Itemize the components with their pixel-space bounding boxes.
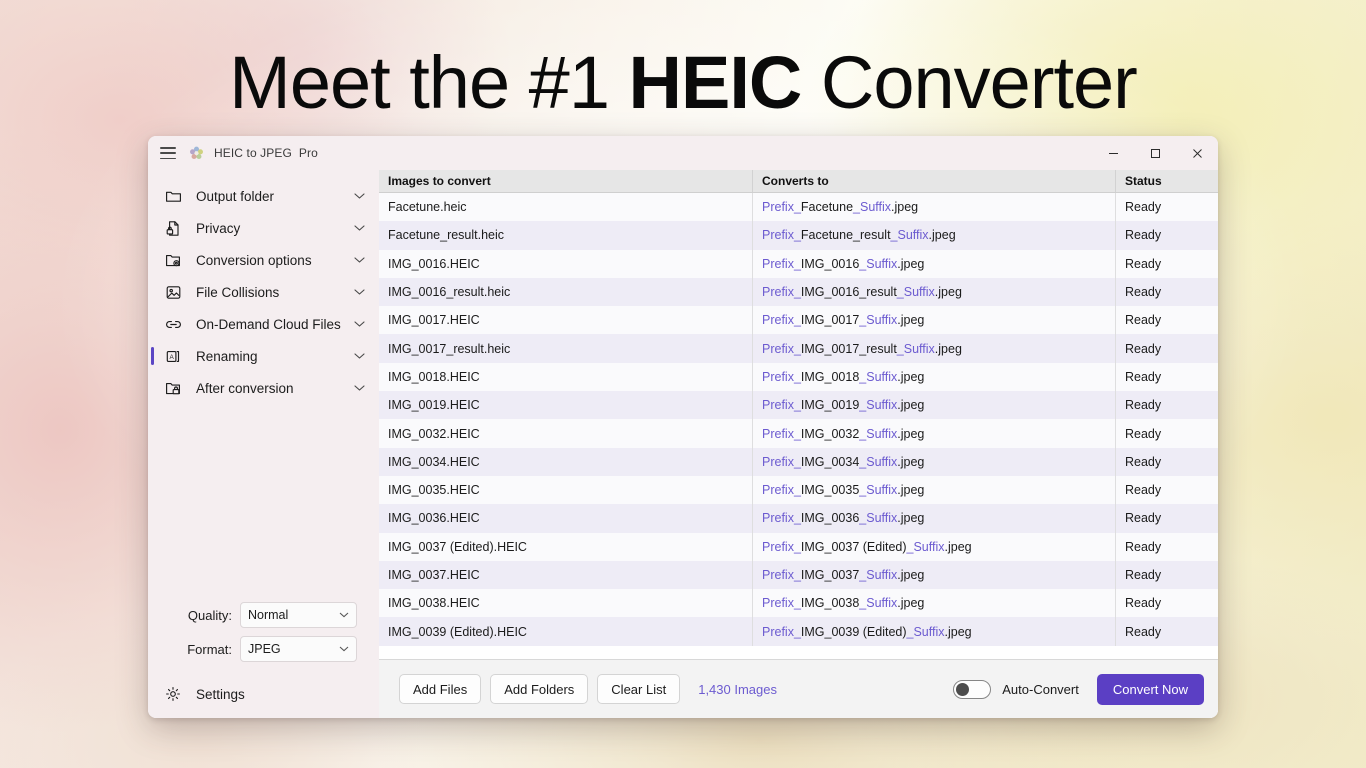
table-row[interactable]: IMG_0016.HEICPrefix_IMG_0016_Suffix.jpeg…	[379, 250, 1218, 278]
cell-output-file: Prefix_Facetune_Suffix.jpeg	[753, 193, 1116, 221]
file-table: Images to convert Converts to Status Fac…	[379, 170, 1218, 659]
cell-output-file: Prefix_IMG_0032_Suffix.jpeg	[753, 419, 1116, 447]
file-lock-icon	[164, 220, 182, 237]
sidebar-item-label: Privacy	[196, 221, 353, 236]
output-extension: .jpeg	[897, 257, 924, 271]
cell-status: Ready	[1116, 476, 1218, 504]
output-extension: .jpeg	[945, 540, 972, 554]
output-suffix: _Suffix	[907, 625, 945, 639]
cell-status: Ready	[1116, 504, 1218, 532]
table-row[interactable]: Facetune_result.heicPrefix_Facetune_resu…	[379, 221, 1218, 249]
output-basename: IMG_0034	[801, 455, 859, 469]
selected-indicator	[151, 347, 154, 365]
output-extension: .jpeg	[897, 511, 924, 525]
image-icon	[164, 284, 182, 301]
output-extension: .jpeg	[897, 370, 924, 384]
headline-emphasis: HEIC	[629, 41, 802, 124]
sidebar-item-after-conversion[interactable]: After conversion	[148, 372, 379, 404]
cell-source-file: Facetune.heic	[379, 193, 753, 221]
table-row[interactable]: IMG_0037.HEICPrefix_IMG_0037_Suffix.jpeg…	[379, 561, 1218, 589]
output-extension: .jpeg	[897, 398, 924, 412]
cell-output-file: Prefix_IMG_0038_Suffix.jpeg	[753, 589, 1116, 617]
output-extension: .jpeg	[935, 342, 962, 356]
format-label: Format:	[187, 642, 232, 657]
output-extension: .jpeg	[897, 427, 924, 441]
sidebar-settings-group: Quality: Normal Format: JPEG	[148, 602, 379, 670]
folder-gear-icon	[164, 252, 182, 269]
output-suffix: _Suffix	[859, 427, 897, 441]
output-extension: .jpeg	[897, 313, 924, 327]
table-row[interactable]: IMG_0035.HEICPrefix_IMG_0035_Suffix.jpeg…	[379, 476, 1218, 504]
output-extension: .jpeg	[897, 568, 924, 582]
output-basename: IMG_0018	[801, 370, 859, 384]
column-header-status[interactable]: Status	[1116, 170, 1218, 192]
table-row[interactable]: IMG_0018.HEICPrefix_IMG_0018_Suffix.jpeg…	[379, 363, 1218, 391]
output-basename: IMG_0017_result	[801, 342, 897, 356]
cell-source-file: IMG_0032.HEIC	[379, 419, 753, 447]
cell-status: Ready	[1116, 589, 1218, 617]
chevron-down-icon[interactable]	[353, 193, 365, 200]
table-row[interactable]: IMG_0032.HEICPrefix_IMG_0032_Suffix.jpeg…	[379, 419, 1218, 447]
cell-output-file: Prefix_Facetune_result_Suffix.jpeg	[753, 221, 1116, 249]
output-basename: IMG_0019	[801, 398, 859, 412]
chevron-down-icon	[339, 646, 349, 652]
cell-source-file: IMG_0037.HEIC	[379, 561, 753, 589]
table-row[interactable]: IMG_0037 (Edited).HEICPrefix_IMG_0037 (E…	[379, 533, 1218, 561]
settings-label: Settings	[196, 687, 379, 702]
column-header-converts[interactable]: Converts to	[753, 170, 1116, 192]
chevron-down-icon[interactable]	[353, 257, 365, 264]
cell-output-file: Prefix_IMG_0037 (Edited)_Suffix.jpeg	[753, 533, 1116, 561]
output-prefix: Prefix_	[762, 427, 801, 441]
output-extension: .jpeg	[929, 228, 956, 242]
cell-output-file: Prefix_IMG_0039 (Edited)_Suffix.jpeg	[753, 617, 1116, 645]
output-basename: IMG_0037	[801, 568, 859, 582]
output-basename: IMG_0016_result	[801, 285, 897, 299]
sidebar-item-file-collisions[interactable]: File Collisions	[148, 276, 379, 308]
output-prefix: Prefix_	[762, 540, 801, 554]
column-header-images[interactable]: Images to convert	[379, 170, 753, 192]
format-value: JPEG	[248, 642, 339, 656]
output-basename: IMG_0038	[801, 596, 859, 610]
cell-status: Ready	[1116, 617, 1218, 645]
cell-status: Ready	[1116, 533, 1218, 561]
auto-convert-toggle[interactable]	[953, 680, 991, 699]
folder-lock-icon	[164, 380, 182, 397]
add-folders-button[interactable]: Add Folders	[490, 674, 588, 704]
hamburger-menu-icon[interactable]	[160, 147, 176, 159]
page-headline: Meet the #1 HEIC Converter	[0, 40, 1366, 126]
cell-source-file: IMG_0037 (Edited).HEIC	[379, 533, 753, 561]
output-basename: IMG_0017	[801, 313, 859, 327]
quality-select[interactable]: Normal	[240, 602, 357, 628]
output-prefix: Prefix_	[762, 455, 801, 469]
output-suffix: _Suffix	[859, 398, 897, 412]
sidebar-item-renaming[interactable]: ARenaming	[148, 340, 379, 372]
auto-convert-label: Auto-Convert	[1002, 682, 1079, 697]
output-extension: .jpeg	[897, 455, 924, 469]
close-button[interactable]	[1176, 136, 1218, 170]
sidebar-spacer	[148, 404, 379, 602]
format-select[interactable]: JPEG	[240, 636, 357, 662]
sidebar-item-on-demand-cloud-files[interactable]: On-Demand Cloud Files	[148, 308, 379, 340]
main-content: Images to convert Converts to Status Fac…	[379, 170, 1218, 718]
sidebar: Output folderPrivacyConversion optionsFi…	[148, 170, 379, 718]
output-prefix: Prefix_	[762, 342, 801, 356]
table-row[interactable]: IMG_0038.HEICPrefix_IMG_0038_Suffix.jpeg…	[379, 589, 1218, 617]
output-suffix: _Suffix	[859, 313, 897, 327]
output-suffix: _Suffix	[859, 568, 897, 582]
output-prefix: Prefix_	[762, 257, 801, 271]
window-body: Output folderPrivacyConversion optionsFi…	[148, 170, 1218, 718]
rename-tag-icon: A	[164, 348, 182, 365]
cell-status: Ready	[1116, 221, 1218, 249]
app-edition: Pro	[299, 146, 318, 160]
cell-status: Ready	[1116, 193, 1218, 221]
output-prefix: Prefix_	[762, 398, 801, 412]
cell-status: Ready	[1116, 363, 1218, 391]
cell-status: Ready	[1116, 448, 1218, 476]
cell-source-file: IMG_0016.HEIC	[379, 250, 753, 278]
headline-after: Converter	[801, 41, 1136, 124]
output-extension: .jpeg	[935, 285, 962, 299]
output-suffix: _Suffix	[897, 285, 935, 299]
cell-source-file: IMG_0035.HEIC	[379, 476, 753, 504]
output-prefix: Prefix_	[762, 625, 801, 639]
window-controls	[1092, 136, 1218, 170]
table-row[interactable]: IMG_0019.HEICPrefix_IMG_0019_Suffix.jpeg…	[379, 391, 1218, 419]
table-row[interactable]: IMG_0039 (Edited).HEICPrefix_IMG_0039 (E…	[379, 617, 1218, 645]
cell-status: Ready	[1116, 419, 1218, 447]
cell-source-file: IMG_0016_result.heic	[379, 278, 753, 306]
cell-source-file: IMG_0018.HEIC	[379, 363, 753, 391]
app-name: HEIC to JPEG	[214, 146, 292, 160]
output-suffix: _Suffix	[907, 540, 945, 554]
cell-status: Ready	[1116, 250, 1218, 278]
output-basename: IMG_0016	[801, 257, 859, 271]
sidebar-item-label: After conversion	[196, 381, 353, 396]
window-title: HEIC to JPEGPro	[214, 146, 318, 160]
table-header-row: Images to convert Converts to Status	[379, 170, 1218, 193]
svg-text:A: A	[169, 353, 174, 360]
cell-source-file: IMG_0034.HEIC	[379, 448, 753, 476]
output-prefix: Prefix_	[762, 285, 801, 299]
quality-row: Quality: Normal	[148, 602, 357, 628]
cell-output-file: Prefix_IMG_0016_Suffix.jpeg	[753, 250, 1116, 278]
output-extension: .jpeg	[945, 625, 972, 639]
cell-output-file: Prefix_IMG_0016_result_Suffix.jpeg	[753, 278, 1116, 306]
sidebar-item-output-folder[interactable]: Output folder	[148, 180, 379, 212]
output-prefix: Prefix_	[762, 228, 801, 242]
table-row[interactable]: IMG_0036.HEICPrefix_IMG_0036_Suffix.jpeg…	[379, 504, 1218, 532]
chevron-down-icon[interactable]	[353, 225, 365, 232]
output-suffix: _Suffix	[859, 370, 897, 384]
output-basename: IMG_0032	[801, 427, 859, 441]
chevron-down-icon[interactable]	[353, 289, 365, 296]
sidebar-item-privacy[interactable]: Privacy	[148, 212, 379, 244]
output-basename: IMG_0036	[801, 511, 859, 525]
chevron-down-icon[interactable]	[353, 353, 365, 360]
quality-label: Quality:	[188, 608, 232, 623]
cell-status: Ready	[1116, 278, 1218, 306]
cell-output-file: Prefix_IMG_0019_Suffix.jpeg	[753, 391, 1116, 419]
cell-source-file: IMG_0019.HEIC	[379, 391, 753, 419]
cell-source-file: IMG_0036.HEIC	[379, 504, 753, 532]
output-extension: .jpeg	[897, 596, 924, 610]
add-files-button[interactable]: Add Files	[399, 674, 481, 704]
chevron-down-icon[interactable]	[353, 385, 365, 392]
sidebar-item-label: Renaming	[196, 349, 353, 364]
cell-status: Ready	[1116, 561, 1218, 589]
output-prefix: Prefix_	[762, 483, 801, 497]
cell-output-file: Prefix_IMG_0034_Suffix.jpeg	[753, 448, 1116, 476]
cell-source-file: Facetune_result.heic	[379, 221, 753, 249]
cell-output-file: Prefix_IMG_0018_Suffix.jpeg	[753, 363, 1116, 391]
output-basename: Facetune_result	[801, 228, 891, 242]
quality-value: Normal	[248, 608, 339, 622]
output-extension: .jpeg	[891, 200, 918, 214]
cell-output-file: Prefix_IMG_0035_Suffix.jpeg	[753, 476, 1116, 504]
output-prefix: Prefix_	[762, 511, 801, 525]
output-suffix: _Suffix	[859, 483, 897, 497]
table-row[interactable]: IMG_0016_result.heicPrefix_IMG_0016_resu…	[379, 278, 1218, 306]
sidebar-item-conversion-options[interactable]: Conversion options	[148, 244, 379, 276]
cell-output-file: Prefix_IMG_0017_Suffix.jpeg	[753, 306, 1116, 334]
output-basename: IMG_0039 (Edited)	[801, 625, 907, 639]
sidebar-nav: Output folderPrivacyConversion optionsFi…	[148, 170, 379, 404]
table-row[interactable]: Facetune.heicPrefix_Facetune_Suffix.jpeg…	[379, 193, 1218, 221]
output-basename: Facetune	[801, 200, 853, 214]
folder-icon	[164, 188, 182, 205]
output-extension: .jpeg	[897, 483, 924, 497]
sidebar-item-label: File Collisions	[196, 285, 353, 300]
chevron-down-icon[interactable]	[353, 321, 365, 328]
cell-status: Ready	[1116, 334, 1218, 362]
cell-source-file: IMG_0038.HEIC	[379, 589, 753, 617]
bottom-toolbar: Add Files Add Folders Clear List 1,430 I…	[379, 659, 1218, 718]
sidebar-item-label: Output folder	[196, 189, 353, 204]
output-suffix: _Suffix	[859, 257, 897, 271]
image-count-label: 1,430 Images	[698, 682, 777, 697]
output-basename: IMG_0037 (Edited)	[801, 540, 907, 554]
output-prefix: Prefix_	[762, 200, 801, 214]
sidebar-item-label: Conversion options	[196, 253, 353, 268]
maximize-button[interactable]	[1134, 136, 1176, 170]
output-suffix: _Suffix	[859, 455, 897, 469]
output-suffix: _Suffix	[859, 511, 897, 525]
toggle-knob	[956, 683, 969, 696]
output-suffix: _Suffix	[897, 342, 935, 356]
output-suffix: _Suffix	[859, 596, 897, 610]
table-row[interactable]: IMG_0034.HEICPrefix_IMG_0034_Suffix.jpeg…	[379, 448, 1218, 476]
link-icon	[164, 316, 182, 333]
convert-now-button[interactable]: Convert Now	[1097, 674, 1204, 705]
output-prefix: Prefix_	[762, 313, 801, 327]
output-prefix: Prefix_	[762, 596, 801, 610]
title-bar: HEIC to JPEGPro	[148, 136, 1218, 170]
app-logo-icon	[189, 146, 204, 161]
sidebar-item-label: On-Demand Cloud Files	[196, 317, 353, 332]
output-prefix: Prefix_	[762, 370, 801, 384]
cell-output-file: Prefix_IMG_0037_Suffix.jpeg	[753, 561, 1116, 589]
minimize-button[interactable]	[1092, 136, 1134, 170]
gear-icon	[164, 686, 182, 702]
table-row[interactable]: IMG_0017_result.heicPrefix_IMG_0017_resu…	[379, 334, 1218, 362]
cell-source-file: IMG_0039 (Edited).HEIC	[379, 617, 753, 645]
headline-before: Meet the #1	[229, 41, 628, 124]
clear-list-button[interactable]: Clear List	[597, 674, 680, 704]
output-suffix: _Suffix	[853, 200, 891, 214]
output-suffix: _Suffix	[891, 228, 929, 242]
output-basename: IMG_0035	[801, 483, 859, 497]
table-body: Facetune.heicPrefix_Facetune_Suffix.jpeg…	[379, 193, 1218, 659]
cell-source-file: IMG_0017_result.heic	[379, 334, 753, 362]
app-window: HEIC to JPEGPro Output folderPrivacyConv…	[148, 136, 1218, 718]
cell-output-file: Prefix_IMG_0036_Suffix.jpeg	[753, 504, 1116, 532]
cell-status: Ready	[1116, 391, 1218, 419]
cell-source-file: IMG_0017.HEIC	[379, 306, 753, 334]
chevron-down-icon	[339, 612, 349, 618]
output-prefix: Prefix_	[762, 568, 801, 582]
format-row: Format: JPEG	[148, 636, 357, 662]
cell-output-file: Prefix_IMG_0017_result_Suffix.jpeg	[753, 334, 1116, 362]
sidebar-item-settings[interactable]: Settings	[148, 670, 379, 718]
table-row[interactable]: IMG_0017.HEICPrefix_IMG_0017_Suffix.jpeg…	[379, 306, 1218, 334]
cell-status: Ready	[1116, 306, 1218, 334]
